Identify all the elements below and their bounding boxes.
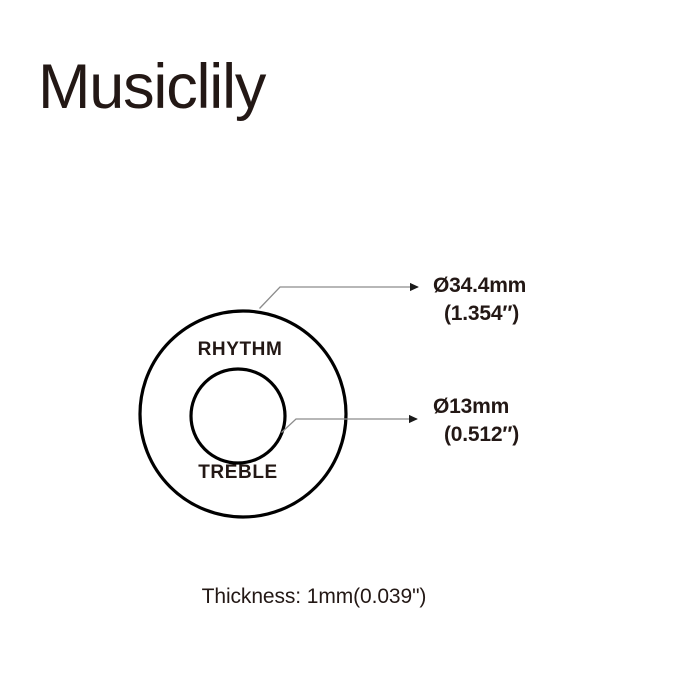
diagram-page: Musiclily RHYTHM TREBLE Ø34.4mm (1.354″)… bbox=[0, 0, 700, 700]
callout-inner-diameter-mm: Ø13mm bbox=[433, 396, 519, 417]
callout-outer-diameter-inch: (1.354″) bbox=[433, 303, 526, 324]
leader-line-outer-diameter bbox=[260, 287, 419, 309]
thickness-caption: Thickness: 1mm(0.039") bbox=[0, 585, 628, 609]
callout-outer-diameter-mm: Ø34.4mm bbox=[433, 275, 526, 296]
ring-label-treble: TREBLE bbox=[198, 462, 278, 484]
callout-inner-diameter: Ø13mm (0.512″) bbox=[433, 396, 519, 445]
washer-inner-circle bbox=[191, 369, 285, 463]
callout-outer-diameter: Ø34.4mm (1.354″) bbox=[433, 275, 526, 324]
callout-inner-diameter-inch: (0.512″) bbox=[433, 424, 519, 445]
ring-label-rhythm: RHYTHM bbox=[198, 339, 283, 361]
